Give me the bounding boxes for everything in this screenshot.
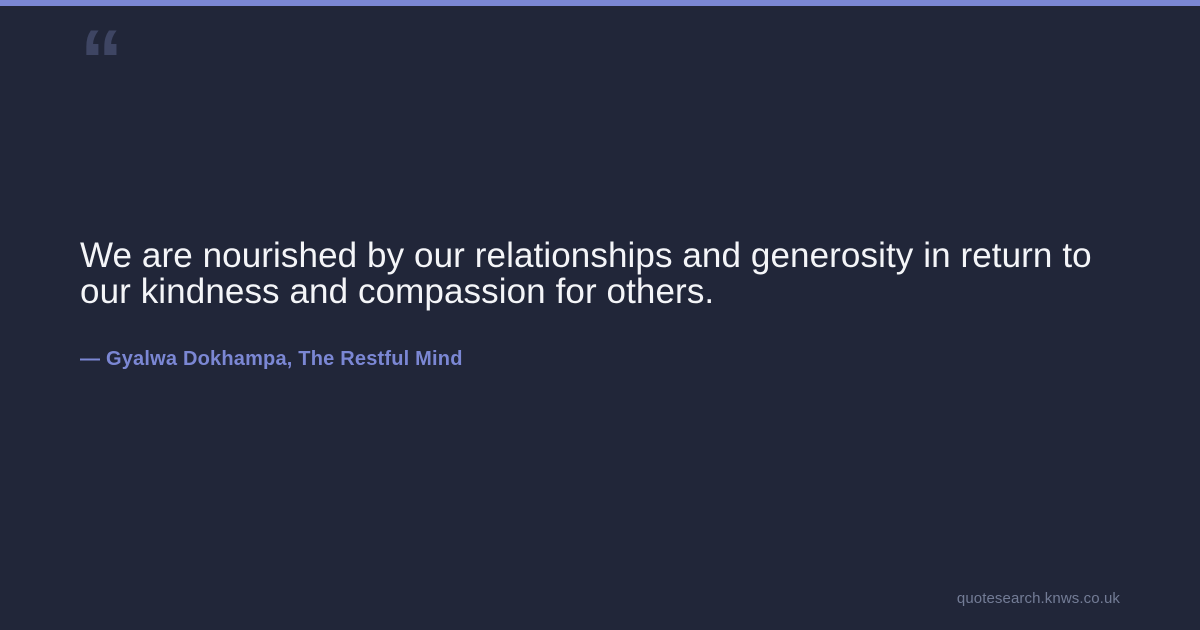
quote-content-block: We are nourished by our relationships an… <box>80 238 1120 371</box>
site-url-footer: quotesearch.knws.co.uk <box>957 590 1120 608</box>
quote-text: We are nourished by our relationships an… <box>80 238 1120 310</box>
quote-attribution: — Gyalwa Dokhampa, The Restful Mind <box>80 310 1120 371</box>
top-accent-bar <box>0 0 1200 6</box>
quote-card: “ We are nourished by our relationships … <box>0 0 1200 630</box>
quotation-mark-icon: “ <box>80 18 121 104</box>
